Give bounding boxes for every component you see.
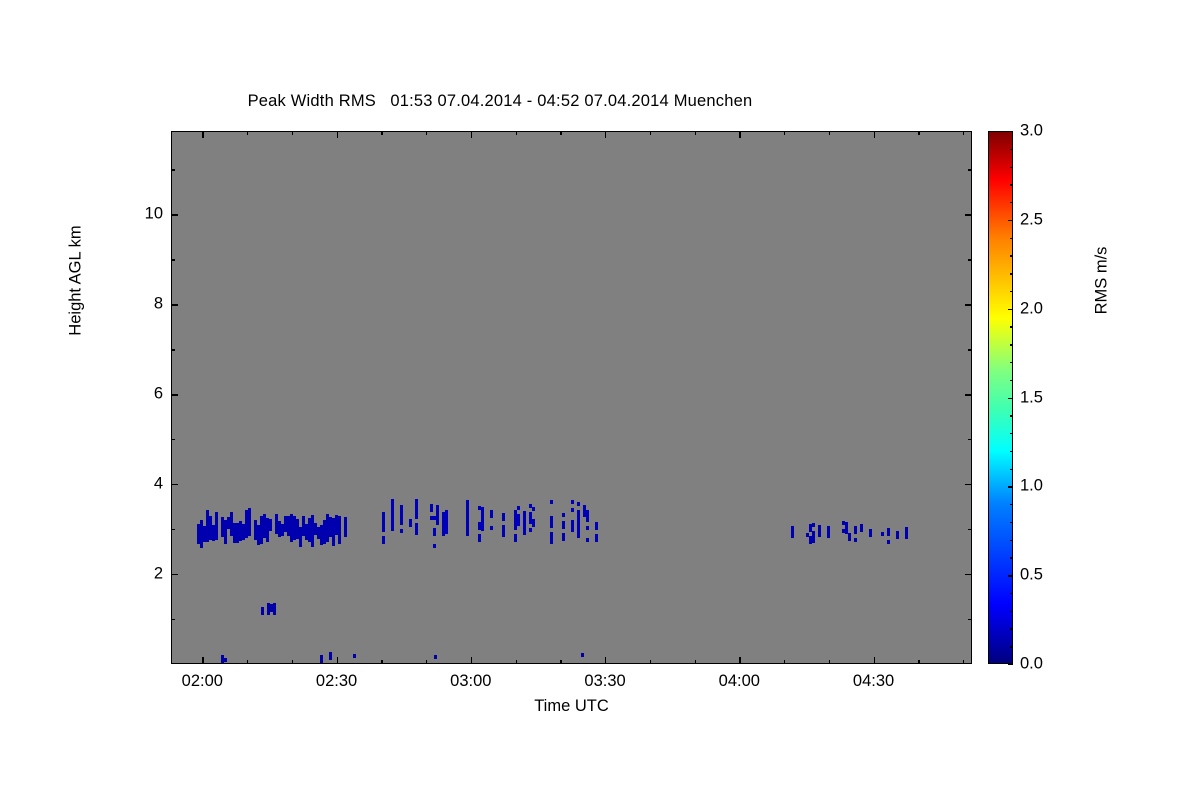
x-tick-minor	[650, 660, 651, 664]
colorbar-tick-label: 1.5	[1020, 388, 1043, 407]
x-tick-label: 02:30	[316, 672, 357, 691]
colorbar-tick-label: 2.0	[1020, 299, 1043, 318]
colorbar-tick-minor	[1010, 238, 1013, 239]
y-tick	[171, 214, 178, 215]
y-tick-minor	[968, 349, 972, 350]
x-tick	[337, 657, 338, 664]
x-tick-minor	[650, 131, 651, 135]
y-tick-minor	[171, 529, 175, 530]
heatmap-canvas	[172, 132, 972, 664]
x-tick-minor	[560, 660, 561, 664]
y-tick	[965, 394, 972, 395]
y-tick	[965, 574, 972, 575]
x-tick-minor	[918, 131, 919, 135]
y-tick-minor	[968, 529, 972, 530]
y-tick-minor	[171, 169, 175, 170]
page-title: Peak Width RMS 01:53 07.04.2014 - 04:52 …	[0, 92, 1000, 111]
colorbar-tick-label: 0.5	[1020, 566, 1043, 585]
y-tick-label: 2	[125, 565, 163, 584]
x-tick	[605, 657, 606, 664]
x-tick	[471, 657, 472, 664]
colorbar-tick	[1008, 131, 1013, 132]
chart-figure: Peak Width RMS 01:53 07.04.2014 - 04:52 …	[0, 0, 1200, 800]
y-tick	[965, 214, 972, 215]
x-tick	[202, 131, 203, 138]
x-tick-label: 02:00	[182, 672, 223, 691]
y-tick-label: 4	[125, 475, 163, 494]
colorbar-tick-minor	[1010, 504, 1013, 505]
x-tick-minor	[247, 660, 248, 664]
colorbar-tick-label: 3.0	[1020, 122, 1043, 141]
y-tick-minor	[171, 349, 175, 350]
x-tick	[739, 657, 740, 664]
x-tick-minor	[963, 131, 964, 135]
y-tick-minor	[968, 259, 972, 260]
y-tick-minor	[968, 169, 972, 170]
x-tick-minor	[247, 131, 248, 135]
colorbar-tick-minor	[1010, 540, 1013, 541]
colorbar-tick-minor	[1010, 451, 1013, 452]
x-tick-minor	[516, 131, 517, 135]
x-tick	[337, 131, 338, 138]
x-tick-minor	[918, 660, 919, 664]
x-tick-minor	[784, 131, 785, 135]
colorbar-tick-minor	[1010, 557, 1013, 558]
y-tick-label: 6	[125, 385, 163, 404]
colorbar-tick-minor	[1010, 149, 1013, 150]
y-tick-minor	[171, 439, 175, 440]
x-tick-minor	[292, 660, 293, 664]
colorbar-tick-label: 0.0	[1020, 655, 1043, 674]
colorbar-tick	[1008, 575, 1013, 576]
plot-area	[171, 131, 972, 664]
colorbar-tick	[1008, 486, 1013, 487]
x-tick	[874, 131, 875, 138]
colorbar-tick-minor	[1010, 167, 1013, 168]
x-tick	[605, 131, 606, 138]
x-tick	[471, 131, 472, 138]
colorbar-tick-label: 1.0	[1020, 477, 1043, 496]
x-tick-minor	[292, 131, 293, 135]
x-tick	[739, 131, 740, 138]
colorbar-tick-minor	[1010, 291, 1013, 292]
colorbar-title: RMS m/s	[1093, 153, 1112, 409]
colorbar-tick-minor	[1010, 469, 1013, 470]
x-tick-minor	[426, 131, 427, 135]
y-tick	[171, 574, 178, 575]
x-tick	[202, 657, 203, 664]
colorbar-tick-minor	[1010, 184, 1013, 185]
y-tick	[171, 484, 178, 485]
x-tick-minor	[516, 660, 517, 664]
y-tick-minor	[968, 439, 972, 440]
colorbar-tick	[1008, 220, 1013, 221]
y-axis-title: Height AGL km	[67, 153, 86, 409]
colorbar-tick-minor	[1010, 202, 1013, 203]
x-axis-title: Time UTC	[171, 697, 972, 716]
colorbar-tick-minor	[1010, 380, 1013, 381]
x-tick-minor	[381, 131, 382, 135]
colorbar-tick-minor	[1010, 415, 1013, 416]
colorbar-tick-minor	[1010, 362, 1013, 363]
colorbar-tick-minor	[1010, 611, 1013, 612]
x-tick-label: 04:00	[719, 672, 760, 691]
y-tick	[171, 394, 178, 395]
colorbar-tick	[1008, 309, 1013, 310]
colorbar-tick	[1008, 398, 1013, 399]
y-tick-minor	[171, 259, 175, 260]
colorbar-tick-minor	[1010, 344, 1013, 345]
colorbar-tick-label: 2.5	[1020, 210, 1043, 229]
colorbar-tick-minor	[1010, 273, 1013, 274]
y-tick-label: 8	[125, 295, 163, 314]
x-tick-label: 03:00	[450, 672, 491, 691]
x-tick-minor	[426, 660, 427, 664]
x-tick-minor	[695, 131, 696, 135]
x-tick-minor	[381, 660, 382, 664]
colorbar-tick-minor	[1010, 255, 1013, 256]
x-tick-minor	[695, 660, 696, 664]
x-tick-minor	[829, 660, 830, 664]
colorbar-tick-minor	[1010, 433, 1013, 434]
x-tick	[874, 657, 875, 664]
x-tick-minor	[829, 131, 830, 135]
x-tick-minor	[963, 660, 964, 664]
colorbar-tick-minor	[1010, 522, 1013, 523]
colorbar-tick-minor	[1010, 593, 1013, 594]
colorbar-tick	[1008, 664, 1013, 665]
x-tick-minor	[560, 131, 561, 135]
y-tick	[965, 484, 972, 485]
y-tick-minor	[968, 619, 972, 620]
x-tick-label: 04:30	[853, 672, 894, 691]
x-tick-minor	[784, 660, 785, 664]
y-tick-minor	[171, 619, 175, 620]
heatmap-data-layer	[172, 132, 971, 663]
x-tick-label: 03:30	[584, 672, 625, 691]
y-tick-label: 10	[125, 205, 163, 224]
y-tick	[171, 304, 178, 305]
y-tick	[965, 304, 972, 305]
colorbar-tick-minor	[1010, 628, 1013, 629]
colorbar-tick-minor	[1010, 646, 1013, 647]
colorbar-tick-minor	[1010, 326, 1013, 327]
